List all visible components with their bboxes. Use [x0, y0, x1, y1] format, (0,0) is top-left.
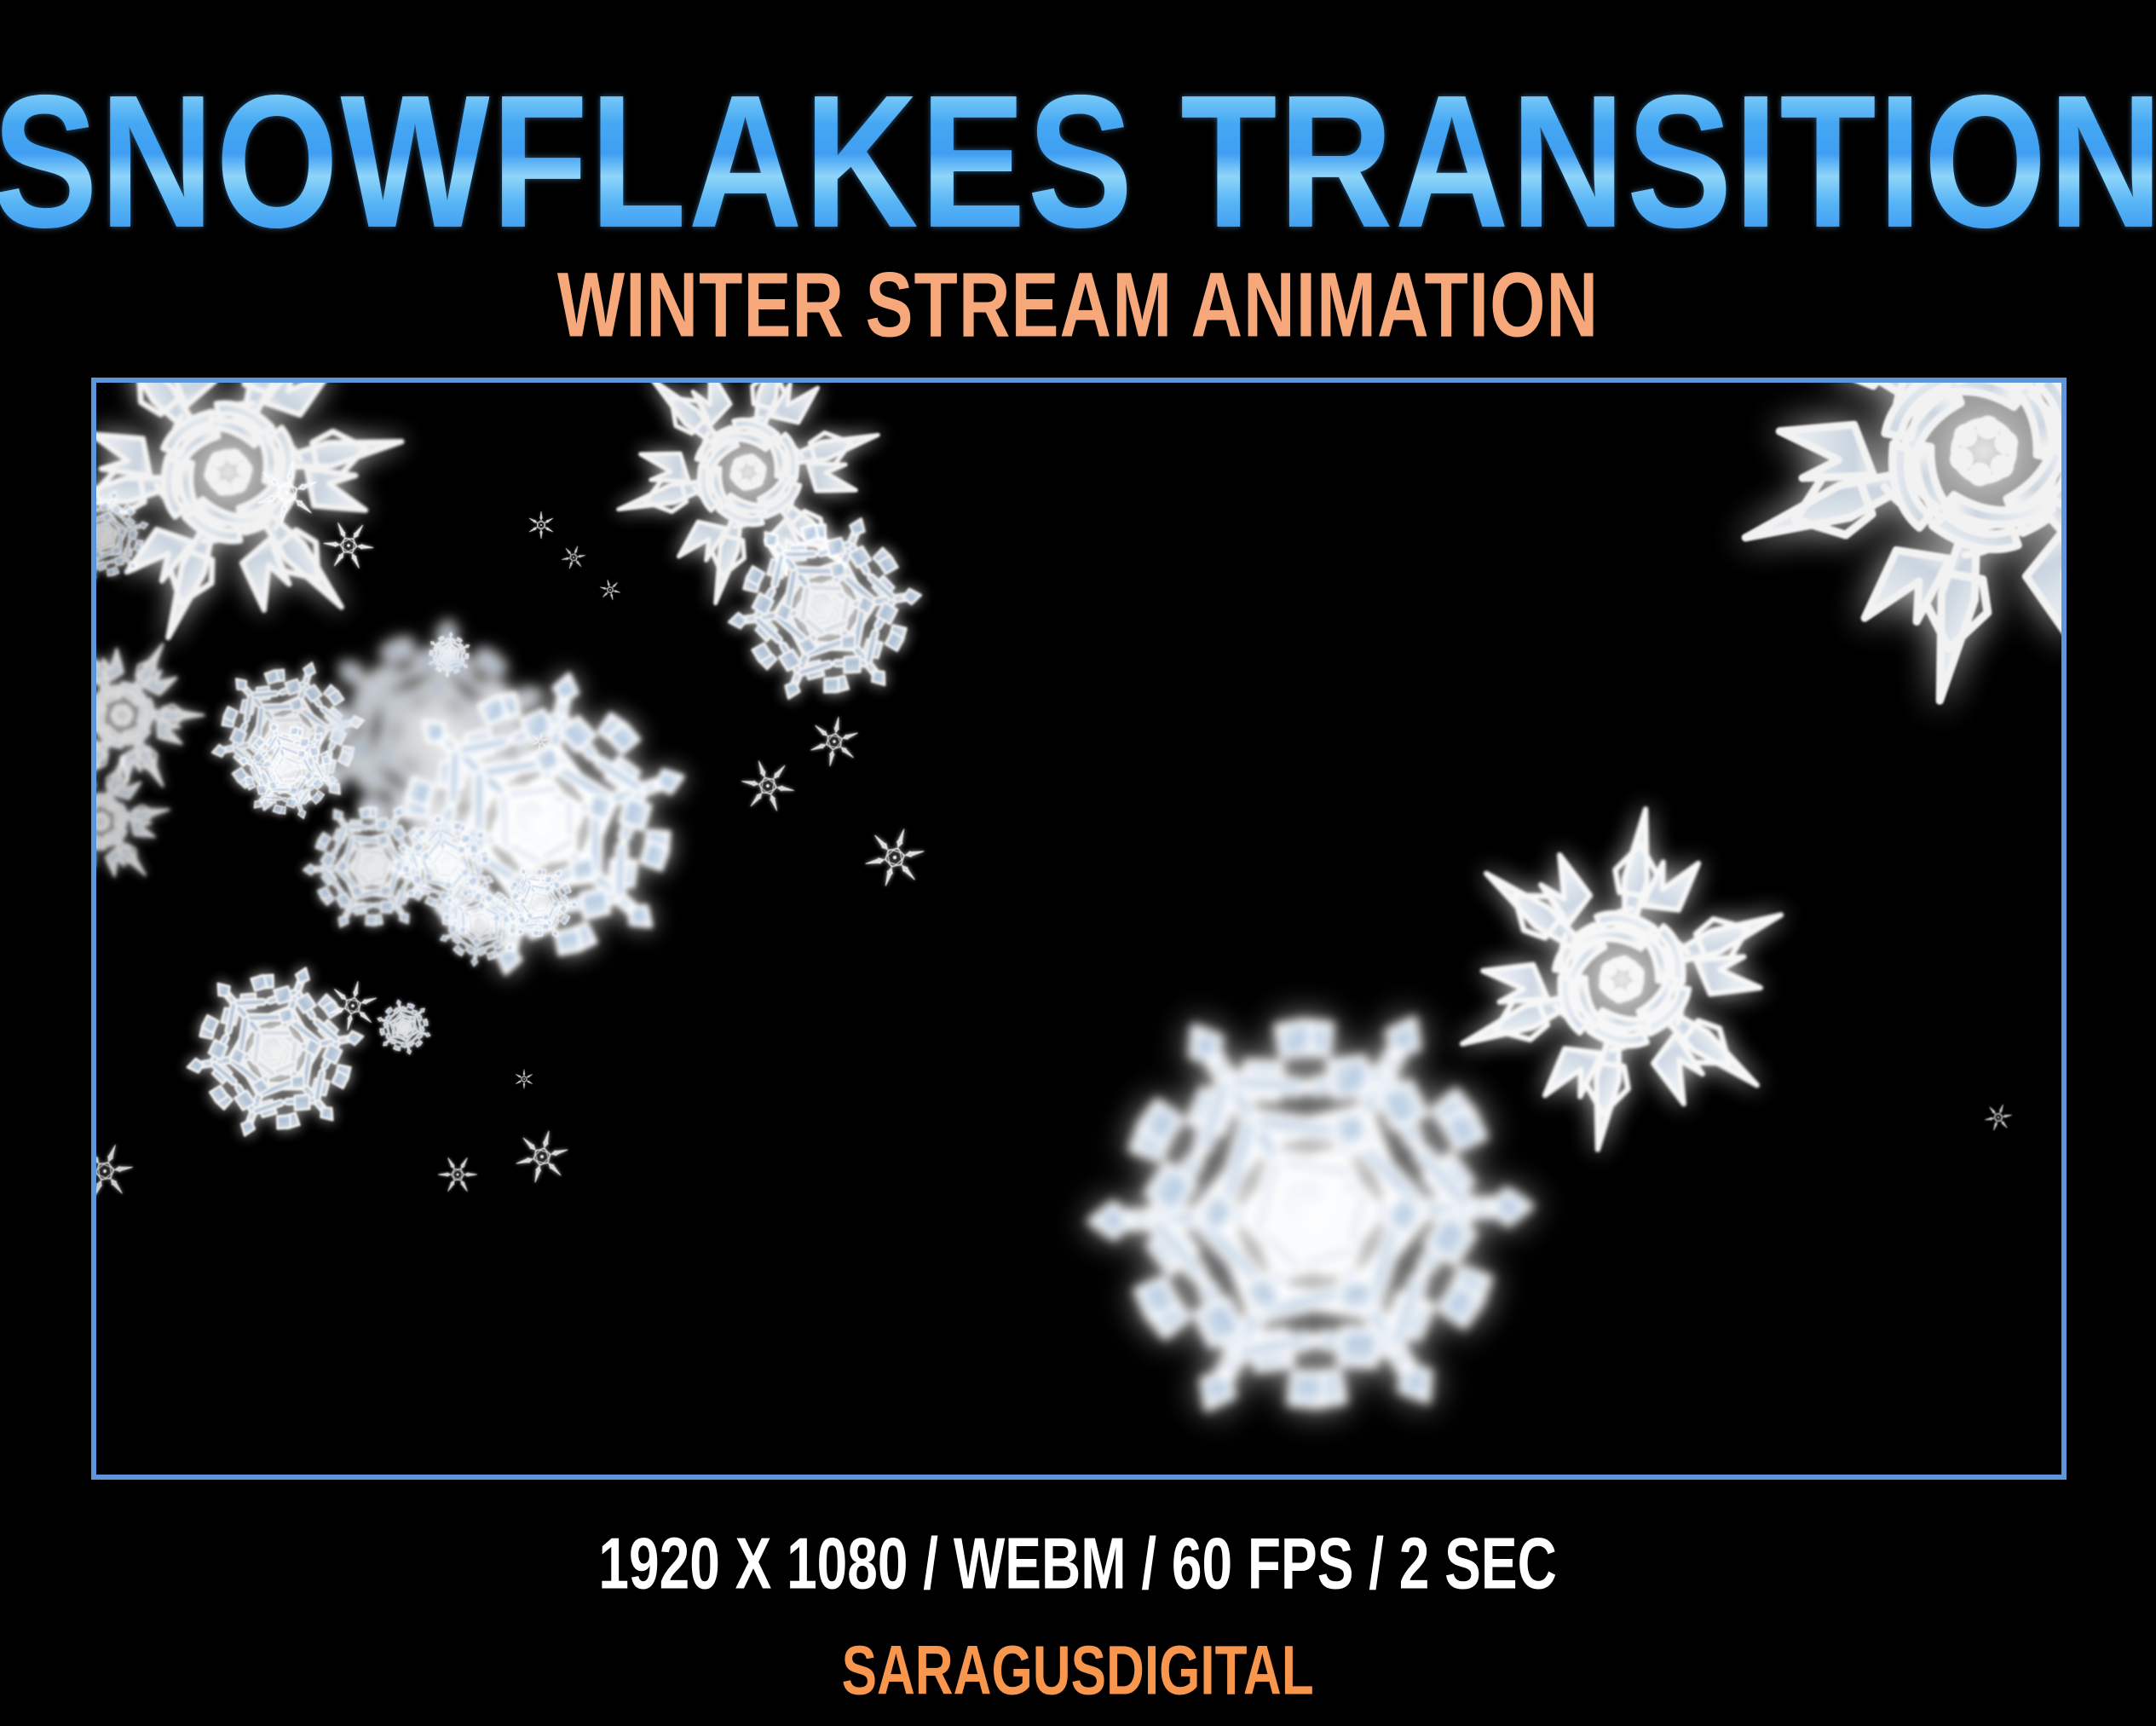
specs-area: 1920 X 1080 / WEBM / 60 FPS / 2 SEC: [0, 1521, 2156, 1585]
brand-area: SARAGUSDIGITAL: [0, 1630, 2156, 1693]
flake-small-a-icon: [249, 454, 326, 531]
flake-cluster-left-icon: [181, 629, 395, 844]
flake-mid-cluster-c-icon: [427, 871, 533, 977]
flake-small-c-icon: [423, 628, 476, 682]
flake-hero-left-icon: [337, 624, 736, 1023]
flake-hero-bottom-icon: [983, 886, 1640, 1475]
flake-tiny-a-icon: [527, 511, 556, 540]
page-subtitle: WINTER STREAM ANIMATION: [557, 252, 1599, 358]
flake-hero-right-icon: [1420, 777, 1824, 1181]
flake-cluster-left-2-icon: [210, 692, 366, 849]
flake-mid-cluster-a-icon: [271, 766, 471, 967]
flake-right-edge-tiny-icon: [1980, 1099, 2017, 1136]
title-area: SNOWFLAKES TRANSITION: [0, 66, 2156, 222]
flake-bottom-tiny-a-icon: [514, 1069, 534, 1089]
flake-top-right-crop-icon: [1678, 383, 2061, 757]
flake-small-b-icon: [312, 509, 385, 582]
brand-name: SARAGUSDIGITAL: [842, 1630, 1314, 1711]
animation-preview-frame[interactable]: [91, 378, 2067, 1480]
flake-right-small-a-icon: [855, 817, 934, 897]
flake-mid-cluster-b-icon: [367, 786, 523, 942]
flake-tiny-c-icon: [595, 574, 626, 606]
flake-bottom-left-edge-icon: [96, 1132, 144, 1209]
flake-lower-left-hero-icon: [150, 926, 401, 1178]
flake-top-mid-large-icon: [578, 383, 919, 643]
page-title: SNOWFLAKES TRANSITION: [0, 66, 2156, 256]
flake-mid-right-small-icon: [804, 711, 865, 772]
specs-text: 1920 X 1080 / WEBM / 60 FPS / 2 SEC: [599, 1521, 1557, 1605]
poster-root: SNOWFLAKES TRANSITION WINTER STREAM ANIM…: [0, 0, 2156, 1726]
flake-bottom-b-icon: [508, 1123, 577, 1192]
flake-center-tiny-icon: [729, 747, 808, 826]
flake-bottom-c-icon: [429, 1146, 486, 1203]
flake-upper-mid-icon: [686, 470, 963, 747]
subtitle-area: WINTER STREAM ANIMATION: [0, 252, 2156, 335]
flake-tiny-d-icon: [529, 730, 551, 752]
flake-left-edge-bottom-icon: [96, 729, 193, 915]
snowflake-stage: [96, 383, 2061, 1475]
flake-tiny-b-icon: [557, 541, 590, 574]
flake-blur-mid-left-icon: [289, 592, 578, 881]
flake-lower-left-b-icon: [321, 974, 384, 1037]
flake-top-left-crop-icon: [96, 383, 464, 707]
flake-lower-left-c-icon: [360, 984, 447, 1071]
flake-left-edge-small-icon: [96, 474, 165, 599]
flake-tiny-e-icon: [258, 749, 292, 783]
flake-mid-cluster-d-icon: [481, 844, 598, 961]
flake-left-edge-lower-icon: [96, 598, 239, 831]
